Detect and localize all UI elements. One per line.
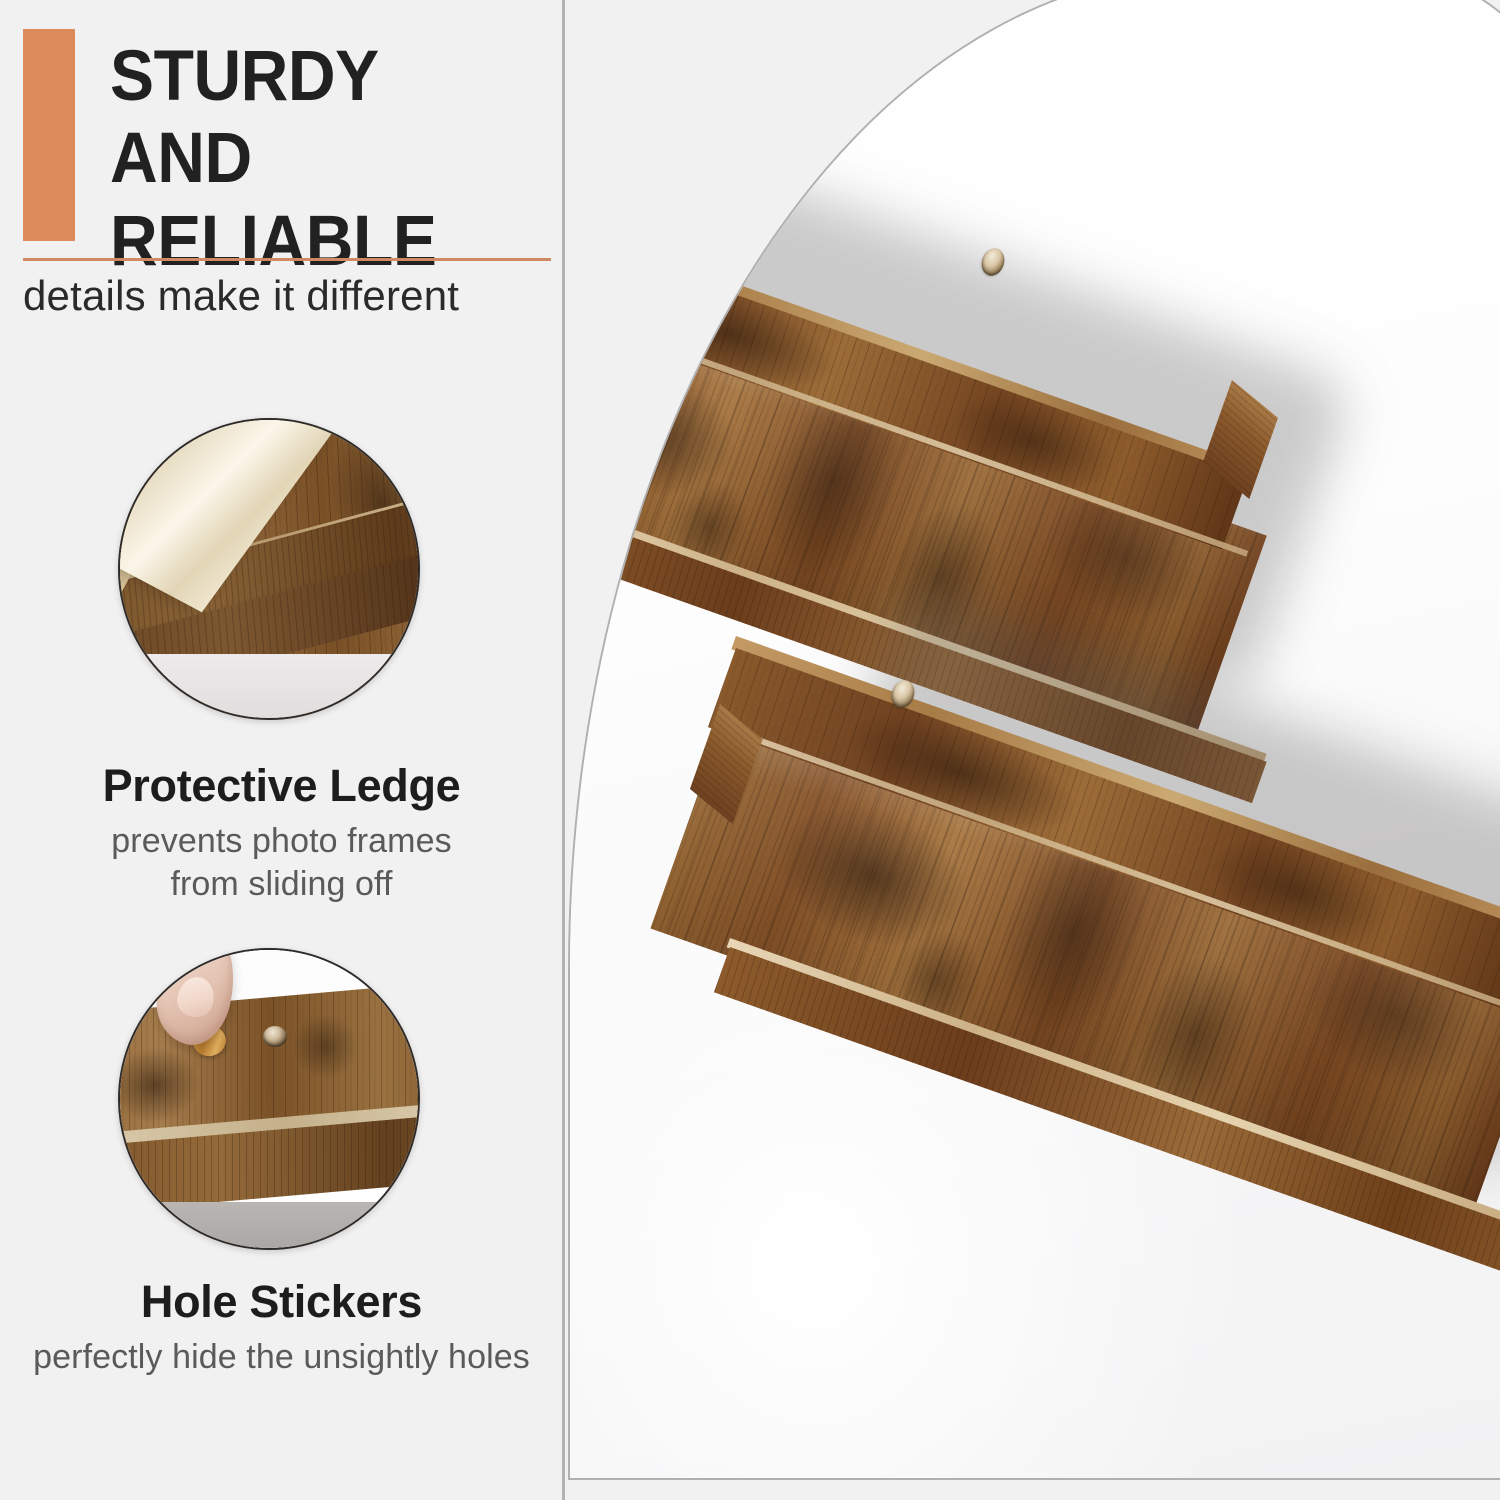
column-divider xyxy=(562,0,565,1500)
arch-frame xyxy=(568,0,1500,1480)
feature-photo-hole-stickers xyxy=(118,948,420,1250)
feature-caption-hole-stickers: Hole Stickers perfectly hide the unsight… xyxy=(0,1278,563,1379)
product-photo-panel xyxy=(568,0,1500,1500)
orange-accent-bar xyxy=(23,29,75,241)
feature-title: Hole Stickers xyxy=(0,1278,563,1326)
feature-caption-protective-ledge: Protective Ledge prevents photo frames f… xyxy=(0,762,563,907)
feature-subtitle: perfectly hide the unsightly holes xyxy=(0,1336,563,1380)
feature-subtitle: prevents photo frames from sliding off xyxy=(0,820,563,907)
page-title: STURDY AND RELIABLE xyxy=(110,36,538,283)
left-info-panel: STURDY AND RELIABLE details make it diff… xyxy=(0,0,563,1500)
title-divider-rule xyxy=(23,258,551,261)
page-subtitle: details make it different xyxy=(23,272,553,320)
feature-title: Protective Ledge xyxy=(0,762,563,810)
marketing-infographic: STURDY AND RELIABLE details make it diff… xyxy=(0,0,1500,1500)
lower-shelf xyxy=(720,422,1500,1322)
feature-photo-protective-ledge xyxy=(118,418,420,720)
